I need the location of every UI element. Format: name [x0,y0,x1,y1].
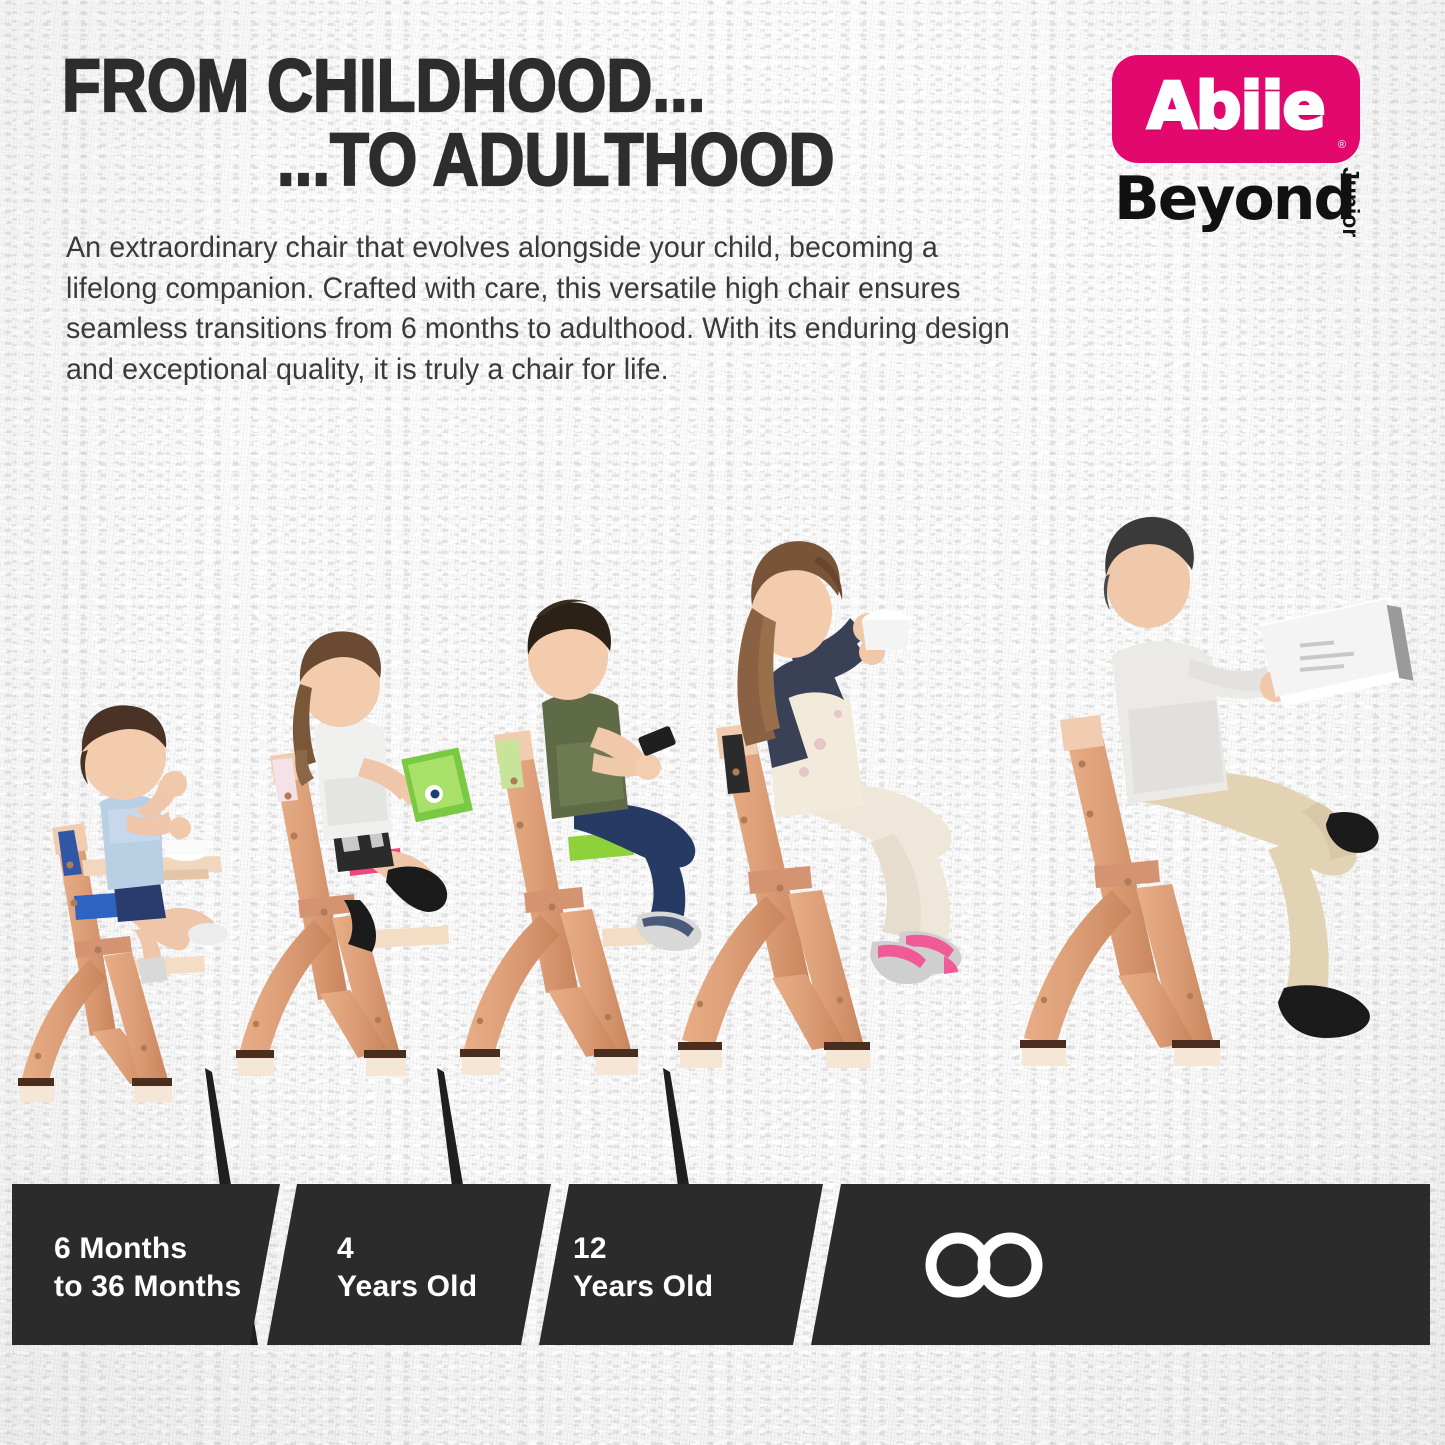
headline-line-1: FROM CHILDHOOD... [62,52,836,120]
brand-name: Abiie [1147,75,1325,139]
timeline-label-1-line1: 4 [337,1230,477,1268]
brand-logo: Abiie ® Beyond Junior [1112,55,1412,243]
figure-woman [668,500,1038,1100]
registered-mark-icon: ® [1338,139,1346,151]
product-name: Beyond [1114,169,1354,229]
product-evolution-scene [0,440,1445,1100]
age-timeline-bar: 6 Months to 36 Months 4 Years Old 12 Yea… [12,1184,1430,1345]
timeline-label-1: 4 Years Old [337,1230,477,1307]
timeline-label-2-line2: Years Old [573,1268,713,1306]
timeline-label-0-line1: 6 Months [54,1230,241,1268]
description-paragraph: An extraordinary chair that evolves alon… [66,228,1012,391]
product-tier: Junior [1337,167,1364,237]
infographic-page: FROM CHILDHOOD... ...TO ADULTHOOD An ext… [0,0,1445,1445]
brand-badge: Abiie ® [1112,55,1360,163]
timeline-label-2: 12 Years Old [573,1230,713,1307]
timeline-segment-3 [811,1184,1430,1345]
headline-line-2: ...TO ADULTHOOD [62,126,836,194]
timeline-label-2-line1: 12 [573,1230,713,1268]
timeline-label-0-line2: to 36 Months [54,1268,241,1306]
timeline-label-0: 6 Months to 36 Months [54,1230,241,1307]
timeline-label-1-line2: Years Old [337,1268,477,1306]
infinity-icon [920,1230,1052,1300]
figure-man [1000,490,1440,1100]
product-line: Beyond Junior [1112,169,1412,243]
headline-block: FROM CHILDHOOD... ...TO ADULTHOOD [62,52,962,194]
